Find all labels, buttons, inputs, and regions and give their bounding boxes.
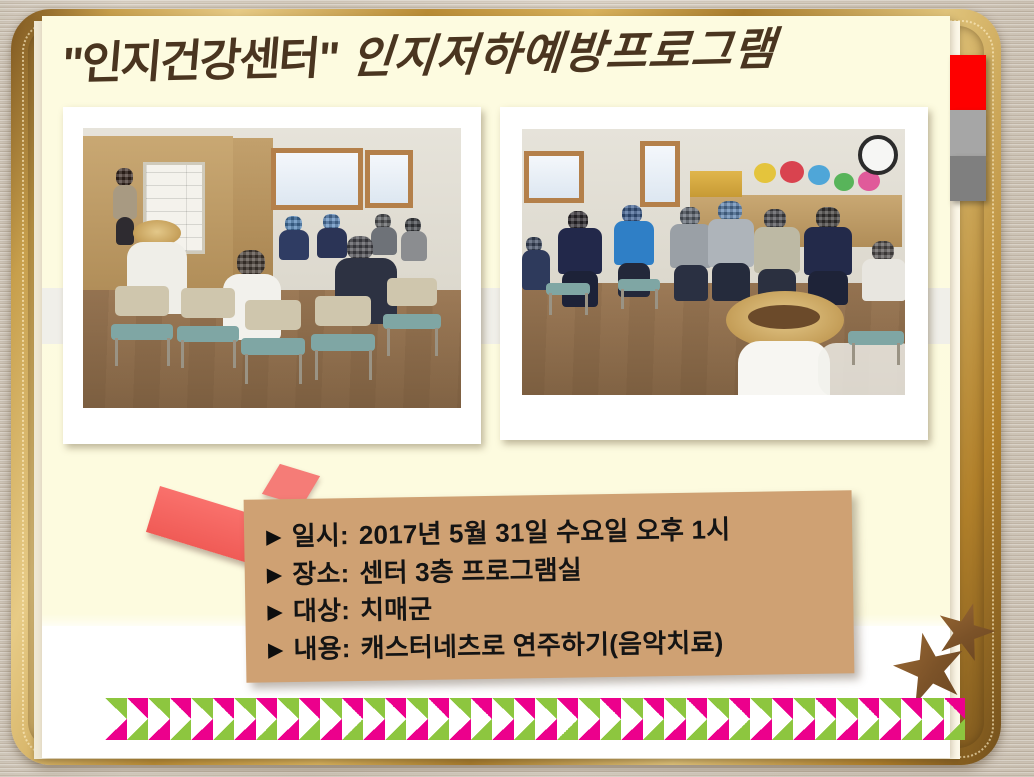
page-title: "인지건강센터" 인지저하예방프로그램 — [60, 23, 866, 87]
info-value-target: 치매군 — [360, 592, 433, 628]
ribbon-cell — [105, 698, 127, 740]
ribbon-triangle — [514, 698, 536, 719]
ribbon-cell — [363, 698, 385, 740]
ribbon-triangle — [729, 719, 751, 740]
info-row-place: ▶ 장소: 센터 3층 프로그램실 — [267, 548, 843, 592]
ribbon-triangle — [385, 698, 407, 719]
ribbon-cell — [277, 698, 299, 740]
info-label-datetime: 일시: — [292, 518, 350, 553]
ribbon-cell — [449, 698, 471, 740]
ribbon-cell — [879, 698, 901, 740]
ribbon-triangle — [492, 719, 514, 740]
ribbon-cell — [256, 698, 278, 740]
ribbon-triangle — [686, 698, 708, 719]
ribbon-triangle — [342, 719, 364, 740]
ribbon-triangle — [514, 719, 536, 740]
ribbon-triangle — [922, 698, 944, 719]
ribbon-cell — [707, 698, 729, 740]
info-row-content: ▶ 내용: 캐스터네츠로 연주하기(음악치료) — [268, 623, 844, 667]
info-row-datetime: ▶ 일시: 2017년 5월 31일 수요일 오후 1시 — [266, 510, 842, 554]
ribbon-cell — [514, 698, 536, 740]
ribbon-triangle — [127, 698, 149, 719]
ribbon-cell — [772, 698, 794, 740]
ribbon-triangle — [342, 698, 364, 719]
ribbon-triangle — [471, 698, 493, 719]
ribbon-triangle — [707, 698, 729, 719]
ribbon-triangle — [535, 698, 557, 719]
ribbon-triangle — [901, 698, 923, 719]
ribbon-cell — [535, 698, 557, 740]
ribbon-triangle — [170, 698, 192, 719]
ribbon-triangle — [191, 698, 213, 719]
bullet-triangle-icon: ▶ — [268, 640, 284, 660]
title-quoted-part: "인지건강센터" — [60, 32, 340, 89]
ribbon-triangle — [664, 698, 686, 719]
ribbon-cell — [342, 698, 364, 740]
ribbon-cell — [686, 698, 708, 740]
ribbon-triangle — [277, 698, 299, 719]
side-tab-red[interactable] — [950, 55, 986, 110]
ribbon-cell — [213, 698, 235, 740]
ribbon-triangle — [234, 698, 256, 719]
ribbon-triangle — [815, 698, 837, 719]
ribbon-triangle — [858, 719, 880, 740]
ribbon-triangle — [277, 719, 299, 740]
ribbon-cell — [428, 698, 450, 740]
bullet-triangle-icon: ▶ — [267, 602, 283, 622]
ribbon-triangle — [621, 698, 643, 719]
ribbon-triangle — [363, 698, 385, 719]
ribbon-triangle — [643, 719, 665, 740]
side-tab-dark-gray[interactable] — [950, 156, 986, 201]
ribbon-triangle — [578, 719, 600, 740]
ribbon-cell — [385, 698, 407, 740]
ribbon-triangle — [170, 719, 192, 740]
info-label-target: 대상: — [293, 593, 351, 628]
photo-participants-castanets — [522, 129, 905, 395]
ribbon-triangle — [557, 698, 579, 719]
ribbon-triangle — [428, 719, 450, 740]
ribbon-triangle — [105, 719, 127, 740]
info-label-content: 내용: — [293, 631, 351, 666]
ribbon-triangle — [535, 719, 557, 740]
info-list: ▶ 일시: 2017년 5월 31일 수요일 오후 1시 ▶ 장소: 센터 3층… — [266, 510, 844, 666]
ribbon-triangle — [213, 698, 235, 719]
ribbon-cell — [944, 698, 966, 740]
ribbon-triangle — [664, 719, 686, 740]
ribbon-cell — [729, 698, 751, 740]
ribbon-triangle — [471, 719, 493, 740]
photo-group-session-flipchart — [83, 128, 461, 408]
bullet-triangle-icon: ▶ — [266, 527, 282, 547]
ribbon-triangle — [944, 719, 966, 740]
ribbon-cell — [901, 698, 923, 740]
ribbon-triangle — [406, 719, 428, 740]
ribbon-cell — [750, 698, 772, 740]
ribbon-triangle — [299, 698, 321, 719]
ribbon-triangle — [879, 719, 901, 740]
ribbon-cell — [836, 698, 858, 740]
ribbon-triangle — [256, 698, 278, 719]
ribbon-triangle — [836, 698, 858, 719]
slide-page: "인지건강센터" 인지저하예방프로그램 — [42, 16, 950, 758]
ribbon-cell — [406, 698, 428, 740]
ribbon-cell — [664, 698, 686, 740]
info-row-target: ▶ 대상: 치매군 — [267, 586, 843, 630]
ribbon-cell — [170, 698, 192, 740]
ribbon-triangle — [320, 719, 342, 740]
ribbon-cell — [793, 698, 815, 740]
ribbon-triangle — [557, 719, 579, 740]
ribbon-triangle — [944, 698, 966, 719]
ribbon-triangle — [299, 719, 321, 740]
ribbon-triangle — [750, 698, 772, 719]
ribbon-triangle — [901, 719, 923, 740]
ribbon-triangle — [772, 719, 794, 740]
ribbon-triangle — [858, 698, 880, 719]
ribbon-triangle — [213, 719, 235, 740]
ribbon-cell — [492, 698, 514, 740]
ribbon-triangle — [449, 698, 471, 719]
ribbon-triangle — [428, 698, 450, 719]
ribbon-triangle — [256, 719, 278, 740]
ribbon-triangle — [385, 719, 407, 740]
bullet-triangle-icon: ▶ — [267, 565, 283, 585]
info-value-content: 캐스터네츠로 연주하기(음악치료) — [360, 625, 723, 665]
ribbon-triangle — [600, 698, 622, 719]
ribbon-triangle — [793, 698, 815, 719]
ribbon-cell — [299, 698, 321, 740]
ribbon-triangle — [922, 719, 944, 740]
ribbon-triangle — [406, 698, 428, 719]
ribbon-cell — [858, 698, 880, 740]
ribbon-triangle — [148, 698, 170, 719]
ribbon-cell — [320, 698, 342, 740]
ribbon-triangle — [750, 719, 772, 740]
ribbon-triangle — [793, 719, 815, 740]
slide-canvas: "인지건강센터" 인지저하예방프로그램 — [0, 0, 1034, 777]
ribbon-triangle — [191, 719, 213, 740]
ribbon-cell — [191, 698, 213, 740]
ribbon-triangle — [449, 719, 471, 740]
photo-frame-2 — [500, 107, 928, 440]
ribbon-triangle — [492, 698, 514, 719]
ribbon-cell — [815, 698, 837, 740]
ribbon-triangle — [320, 698, 342, 719]
ribbon-triangle — [772, 698, 794, 719]
ribbon-triangle — [707, 719, 729, 740]
ribbon-triangle — [836, 719, 858, 740]
ribbon-cell — [922, 698, 944, 740]
photo-frame-1 — [63, 107, 481, 444]
ribbon-cell — [643, 698, 665, 740]
info-box: ▶ 일시: 2017년 5월 31일 수요일 오후 1시 ▶ 장소: 센터 3층… — [244, 490, 855, 683]
side-tab-light-gray[interactable] — [950, 110, 986, 156]
ribbon-triangle — [686, 719, 708, 740]
ribbon-triangle — [578, 698, 600, 719]
triangle-ribbon-border — [105, 698, 965, 740]
title-rest-part: 인지저하예방프로그램 — [349, 23, 778, 83]
ribbon-triangle — [815, 719, 837, 740]
info-value-datetime: 2017년 5월 31일 수요일 오후 1시 — [359, 512, 731, 552]
ribbon-cell — [557, 698, 579, 740]
ribbon-triangle — [105, 698, 127, 719]
ribbon-cell — [148, 698, 170, 740]
ribbon-triangle — [600, 719, 622, 740]
ribbon-triangle — [879, 698, 901, 719]
ribbon-triangle — [621, 719, 643, 740]
ribbon-cell — [127, 698, 149, 740]
info-label-place: 장소: — [292, 556, 350, 591]
ribbon-triangle — [643, 698, 665, 719]
ribbon-triangle — [363, 719, 385, 740]
ribbon-cell — [471, 698, 493, 740]
ribbon-triangle — [127, 719, 149, 740]
info-value-place: 센터 3층 프로그램실 — [359, 552, 582, 590]
ribbon-cell — [621, 698, 643, 740]
ribbon-triangle — [148, 719, 170, 740]
ribbon-cell — [578, 698, 600, 740]
ribbon-cell — [600, 698, 622, 740]
ribbon-triangle — [729, 698, 751, 719]
ribbon-triangle — [234, 719, 256, 740]
ribbon-cell — [234, 698, 256, 740]
